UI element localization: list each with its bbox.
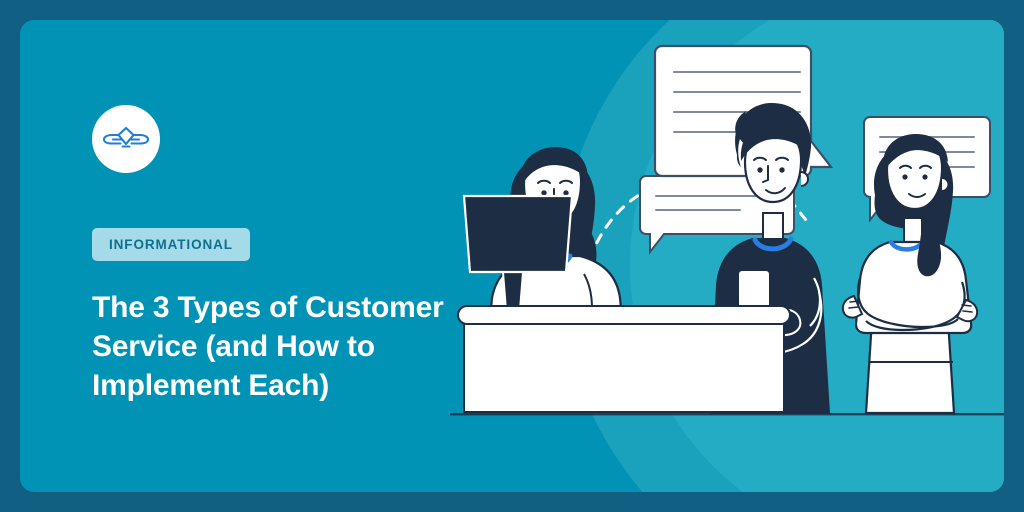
category-badge: INFORMATIONAL xyxy=(92,228,250,261)
page-title: The 3 Types of Customer Service (and How… xyxy=(92,288,492,405)
reception-desk xyxy=(458,306,790,412)
text-column: INFORMATIONAL The 3 Types of Customer Se… xyxy=(72,20,502,492)
customer-service-team-illustration xyxy=(450,20,1004,492)
banner-frame: INFORMATIONAL The 3 Types of Customer Se… xyxy=(0,0,1024,512)
winged-emblem-logo-icon xyxy=(102,122,150,156)
category-badge-label: INFORMATIONAL xyxy=(109,237,233,252)
banner-card: INFORMATIONAL The 3 Types of Customer Se… xyxy=(20,20,1004,492)
brand-logo xyxy=(92,105,160,173)
